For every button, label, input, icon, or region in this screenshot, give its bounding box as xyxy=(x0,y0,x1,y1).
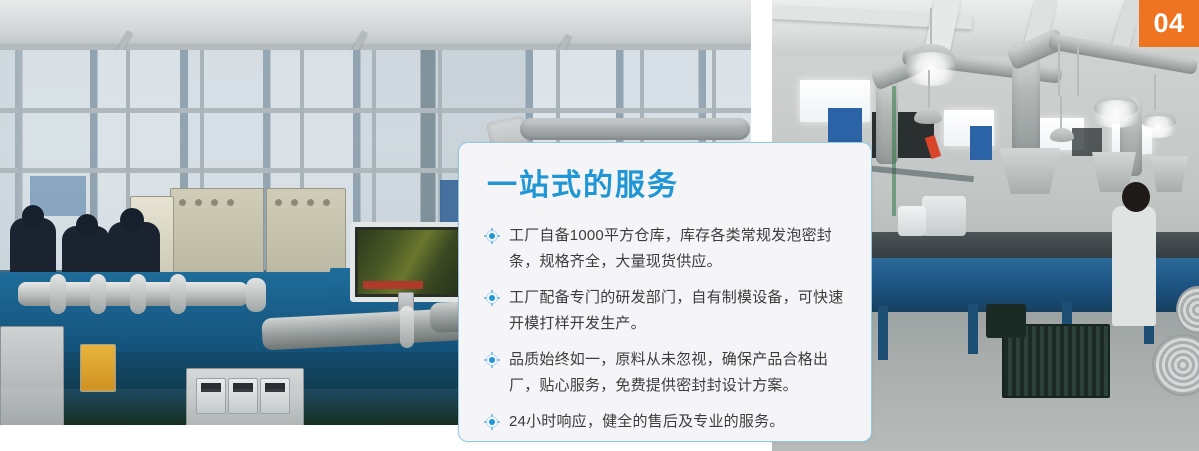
step-number: 04 xyxy=(1153,10,1184,37)
worker-head xyxy=(76,214,98,236)
worker-head xyxy=(22,205,44,227)
list-item-text: 24小时响应，健全的售后及专业的服务。 xyxy=(509,413,785,430)
yellow-control-panel xyxy=(80,344,116,392)
worker-head xyxy=(120,208,144,232)
worker xyxy=(1112,206,1156,326)
green-pipe xyxy=(892,86,896,216)
cabinet-indicators xyxy=(179,199,234,206)
lamp-glow xyxy=(1136,116,1180,138)
lamp-rod xyxy=(1077,44,1079,96)
service-feature-list: 工厂自备1000平方仓库，库存各类常规发泡密封条，规格齐全，大量现货供应。 工厂… xyxy=(485,223,847,435)
worker-head xyxy=(1122,182,1150,212)
card-title: 一站式的服务 xyxy=(487,171,847,201)
extruder-ring xyxy=(170,274,186,314)
cabinet-indicators xyxy=(275,199,330,206)
list-item: 品质始终如一，原料从未忽视，确保产品合格出厂，贴心服务，免费提供密封封设计方案。 xyxy=(485,347,847,399)
pendant-lamp xyxy=(914,108,942,124)
lamp-rod xyxy=(928,70,930,112)
white-container xyxy=(898,206,926,236)
extruder-ring xyxy=(246,278,266,312)
dark-doorway xyxy=(1072,128,1102,156)
target-bullet-icon xyxy=(485,353,499,367)
banner-stage: 04 一站式的服务 工厂自备1000平方仓库，库存各类常规发泡密封条，规格齐全，… xyxy=(0,0,1199,451)
list-item: 工厂配备专门的研发部门，自有制模设备，可快速开模打样开发生产。 xyxy=(485,285,847,337)
extruder-ring xyxy=(50,274,66,314)
list-item-text: 工厂自备1000平方仓库，库存各类常规发泡密封条，规格齐全，大量现货供应。 xyxy=(509,227,832,270)
line-leg xyxy=(878,306,888,360)
hmi-display xyxy=(350,222,472,302)
extruder-ring xyxy=(130,274,146,314)
list-item: 工厂自备1000平方仓库，库存各类常规发泡密封条，规格齐全，大量现货供应。 xyxy=(485,223,847,275)
list-item-text: 工厂配备专门的研发部门，自有制模设备，可快速开模打样开发生产。 xyxy=(509,289,843,332)
lamp-rod xyxy=(1060,96,1062,132)
lamp-rod xyxy=(1058,44,1060,96)
list-item-text: 品质始终如一，原料从未忽视，确保产品合格出厂，贴心服务，免费提供密封封设计方案。 xyxy=(509,351,828,394)
list-item: 24小时响应，健全的售后及专业的服务。 xyxy=(485,409,847,435)
step-number-badge: 04 xyxy=(1139,0,1199,47)
target-bullet-icon xyxy=(485,291,499,305)
target-bullet-icon xyxy=(485,229,499,243)
line-leg xyxy=(968,304,978,354)
pendant-lamp xyxy=(1050,128,1074,142)
service-info-card: 一站式的服务 工厂自备1000平方仓库，库存各类常规发泡密封条，规格齐全，大量现… xyxy=(458,142,872,442)
white-container xyxy=(922,196,966,236)
blue-door xyxy=(970,126,992,160)
target-bullet-icon xyxy=(485,415,499,429)
lamp-rod xyxy=(1154,74,1156,114)
barrel-flange xyxy=(400,306,414,348)
exhaust-duct-horizontal xyxy=(520,118,750,140)
parts-bin xyxy=(986,304,1026,338)
extruder-ring xyxy=(90,274,106,314)
lamp-glow xyxy=(900,52,962,86)
